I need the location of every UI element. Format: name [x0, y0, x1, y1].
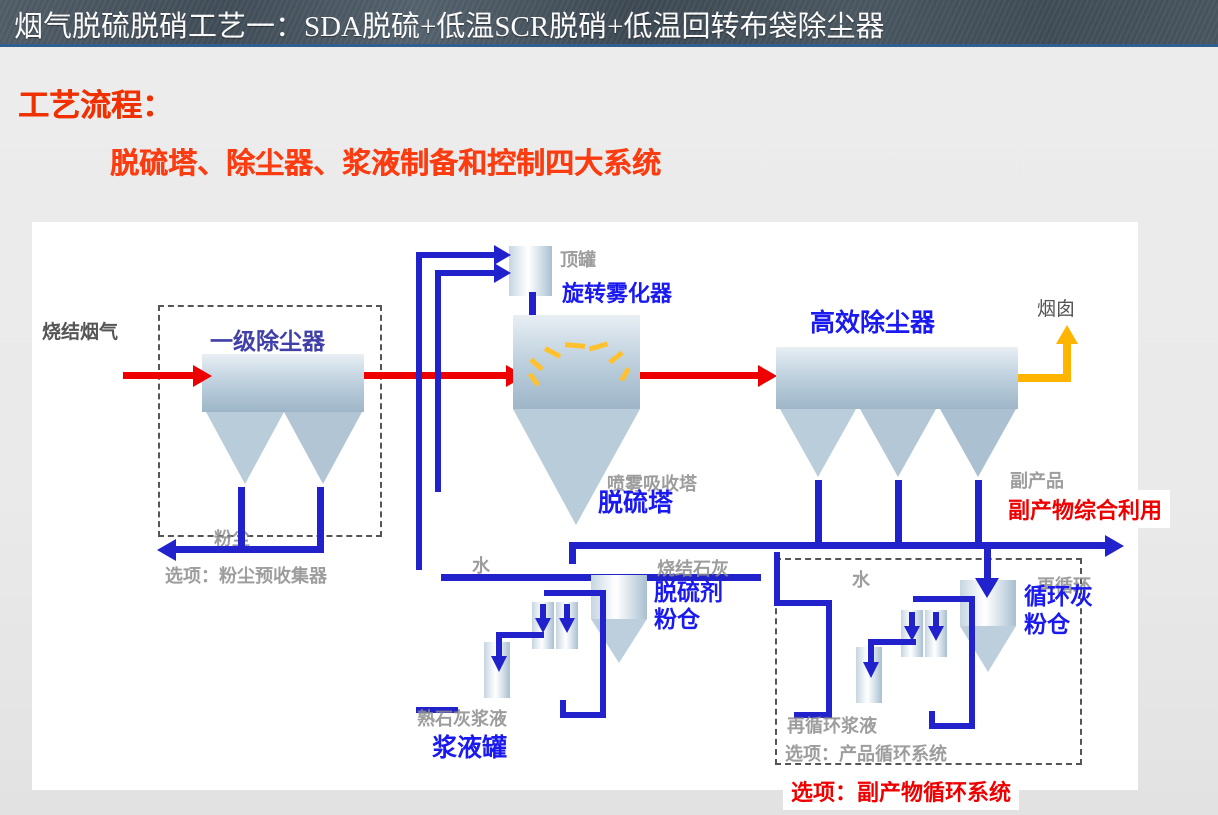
red-arrow-3-icon: [758, 365, 777, 387]
primary-dust-collector-body: [202, 354, 364, 412]
page-title: 烟气脱硫脱硝工艺一：SDA脱硫+低温SCR脱硝+低温回转布袋除尘器: [14, 3, 885, 45]
tank-feed-arrow-lower-icon: [494, 263, 511, 283]
water-label-right: 水: [852, 566, 870, 592]
tank-feed-line-upper: [416, 252, 496, 258]
ash-silo-feed-line: [984, 549, 991, 581]
byproduct-utilization-label: 副产物综合利用: [1000, 490, 1170, 528]
red-inlet-line: [123, 372, 195, 379]
high-efficiency-collector-label: 高效除尘器: [810, 310, 935, 336]
recycle-slurry-faint-label: 再循环浆液: [787, 712, 877, 738]
recycle-silo-discharge-stub: [929, 711, 935, 729]
primary-hopper-1: [206, 412, 284, 484]
byproduct-recycle-system-label: 选项：副产物循环系统: [783, 772, 1019, 810]
red-arrow-1-icon: [193, 365, 212, 387]
he-drop-line-1: [815, 480, 822, 548]
product-recycle-caption: 选项：产品循环系统: [785, 740, 947, 766]
product-collector-arrow-right-icon: [1105, 535, 1124, 557]
tank-feed-arrow-upper-icon: [494, 245, 511, 265]
he-hopper-1: [780, 409, 856, 477]
primary-dust-collector-label: 一级除尘器: [210, 322, 325, 356]
dust-drop-line-1: [238, 487, 245, 553]
chimney-arrow-up-icon: [1056, 325, 1078, 344]
top-tank-label: 顶罐: [560, 246, 596, 272]
tank-riser-outer: [416, 252, 422, 570]
desulfurizer-silo-label-1: 脱硫剂: [654, 580, 723, 604]
silo-discharge-top: [544, 590, 606, 596]
tank-feed-line-lower: [435, 270, 496, 276]
primary-hopper-2: [284, 412, 362, 484]
chimney-vertical-line: [1063, 342, 1071, 378]
ash-silo-feed-arrow-icon: [975, 578, 999, 598]
desulfurizer-silo-label-2: 粉仓: [654, 607, 700, 631]
recycle-mix-to-tank-arrow-icon: [863, 662, 879, 678]
silo-discharge-vertical: [600, 590, 606, 718]
rotary-atomizer-label: 旋转雾化器: [562, 282, 672, 305]
dust-horizontal-line: [174, 546, 324, 553]
high-efficiency-collector-body: [776, 347, 1018, 409]
tank-riser-inner: [435, 270, 441, 492]
mix-feed-arrow-1-icon: [535, 618, 551, 633]
he-hopper-3: [940, 409, 1016, 477]
recycle-ash-silo-label-1: 循环灰: [1024, 584, 1093, 608]
recycle-return-vertical: [826, 600, 832, 718]
recycle-to-tower-riser: [774, 552, 780, 602]
he-drop-line-3: [975, 480, 982, 548]
dust-arrow-left-icon: [157, 539, 176, 561]
silo-discharge-bottom: [560, 712, 606, 718]
recycle-silo-discharge-bottom: [929, 723, 975, 729]
product-collector-riser-left: [569, 542, 576, 564]
recycle-ash-silo-label-2: 粉仓: [1024, 612, 1070, 636]
process-diagram-panel: 一级除尘器 选项：粉尘预收集器 粉尘 烧结烟气 顶罐 旋转雾化器 喷雾吸收塔 脱…: [32, 222, 1138, 790]
lime-faint-label: 烧结石灰: [657, 555, 729, 581]
top-tank-body: [509, 246, 552, 296]
mix-feed-arrow-2-icon: [559, 618, 575, 633]
mix-to-slurry-horizontal: [496, 632, 544, 638]
mix-to-slurry-arrow-icon: [491, 656, 507, 672]
recycle-silo-discharge-vertical: [969, 596, 975, 729]
hydrated-lime-slurry-label: 熟石灰浆液: [417, 705, 507, 731]
dust-precollector-caption: 选项：粉尘预收集器: [165, 562, 327, 588]
recycle-return-horizontal: [774, 600, 832, 606]
recycle-silo-discharge-top: [913, 596, 975, 602]
slurry-tank-label: 浆液罐: [432, 735, 507, 761]
red-line-tower-to-stage3: [640, 372, 760, 379]
heading-process-flow: 工艺流程：: [18, 80, 173, 125]
recycle-mix-feed-arrow-2-icon: [928, 626, 944, 641]
dust-drop-line-2: [317, 487, 324, 553]
he-hopper-2: [860, 409, 936, 477]
he-drop-line-2: [895, 480, 902, 548]
mix-to-slurry-vertical: [496, 632, 502, 658]
silo-discharge-stub: [560, 700, 566, 718]
desulfurization-tower-label: 脱硫塔: [598, 490, 673, 516]
title-bar: 烟气脱硫脱硝工艺一：SDA脱硫+低温SCR脱硝+低温回转布袋除尘器: [0, 0, 1218, 47]
product-collector-horizontal-line: [569, 542, 1107, 549]
recycle-mix-to-tank-horizontal: [868, 639, 916, 645]
chimney-label: 烟囱: [1037, 294, 1075, 321]
inlet-flue-gas-label: 烧结烟气: [42, 317, 118, 344]
heading-four-systems: 脱硫塔、除尘器、浆液制备和控制四大系统: [110, 140, 661, 182]
